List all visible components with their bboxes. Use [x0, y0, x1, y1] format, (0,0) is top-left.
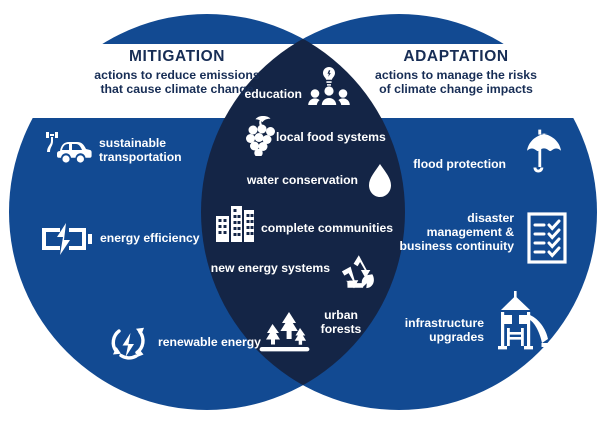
trees-icon: [258, 310, 310, 354]
adaptation-subheading: actions to manage the risks of climate c…: [352, 68, 560, 97]
new-energy-systems-label: new energy systems: [205, 262, 330, 276]
sustainable-transportation-label: sustainable transportation: [99, 137, 209, 165]
complete-communities-label: complete communities: [261, 222, 411, 236]
buildings-icon: [212, 204, 258, 244]
battery-bolt-icon: [35, 217, 95, 261]
playground-slide-icon: [488, 288, 562, 354]
education-label: education: [222, 88, 302, 102]
infrastructure-upgrades-label: infrastructure upgrades: [374, 317, 484, 345]
people-lightbulb-icon: [306, 66, 352, 106]
umbrella-icon: [512, 127, 568, 177]
recycle-leaf-icon: [338, 252, 380, 294]
urban-forests-label: urban forests: [304, 309, 378, 337]
renewable-cycle-bolt-icon: [103, 318, 155, 366]
venn-diagram-figure: MITIGATION actions to reduce emissions t…: [0, 0, 606, 430]
mitigation-heading: MITIGATION: [66, 48, 288, 66]
water-conservation-label: water conservation: [228, 174, 358, 188]
electric-car-icon: [36, 128, 92, 168]
flood-protection-label: flood protection: [392, 158, 506, 172]
checklist-icon: [524, 210, 570, 266]
energy-efficiency-label: energy efficiency: [100, 232, 220, 246]
grapes-icon: [240, 114, 280, 156]
adaptation-heading: ADAPTATION: [352, 48, 560, 66]
local-food-systems-label: local food systems: [276, 131, 406, 145]
adaptation-title-block: ADAPTATION actions to manage the risks o…: [352, 48, 560, 96]
water-drop-icon: [365, 162, 395, 200]
